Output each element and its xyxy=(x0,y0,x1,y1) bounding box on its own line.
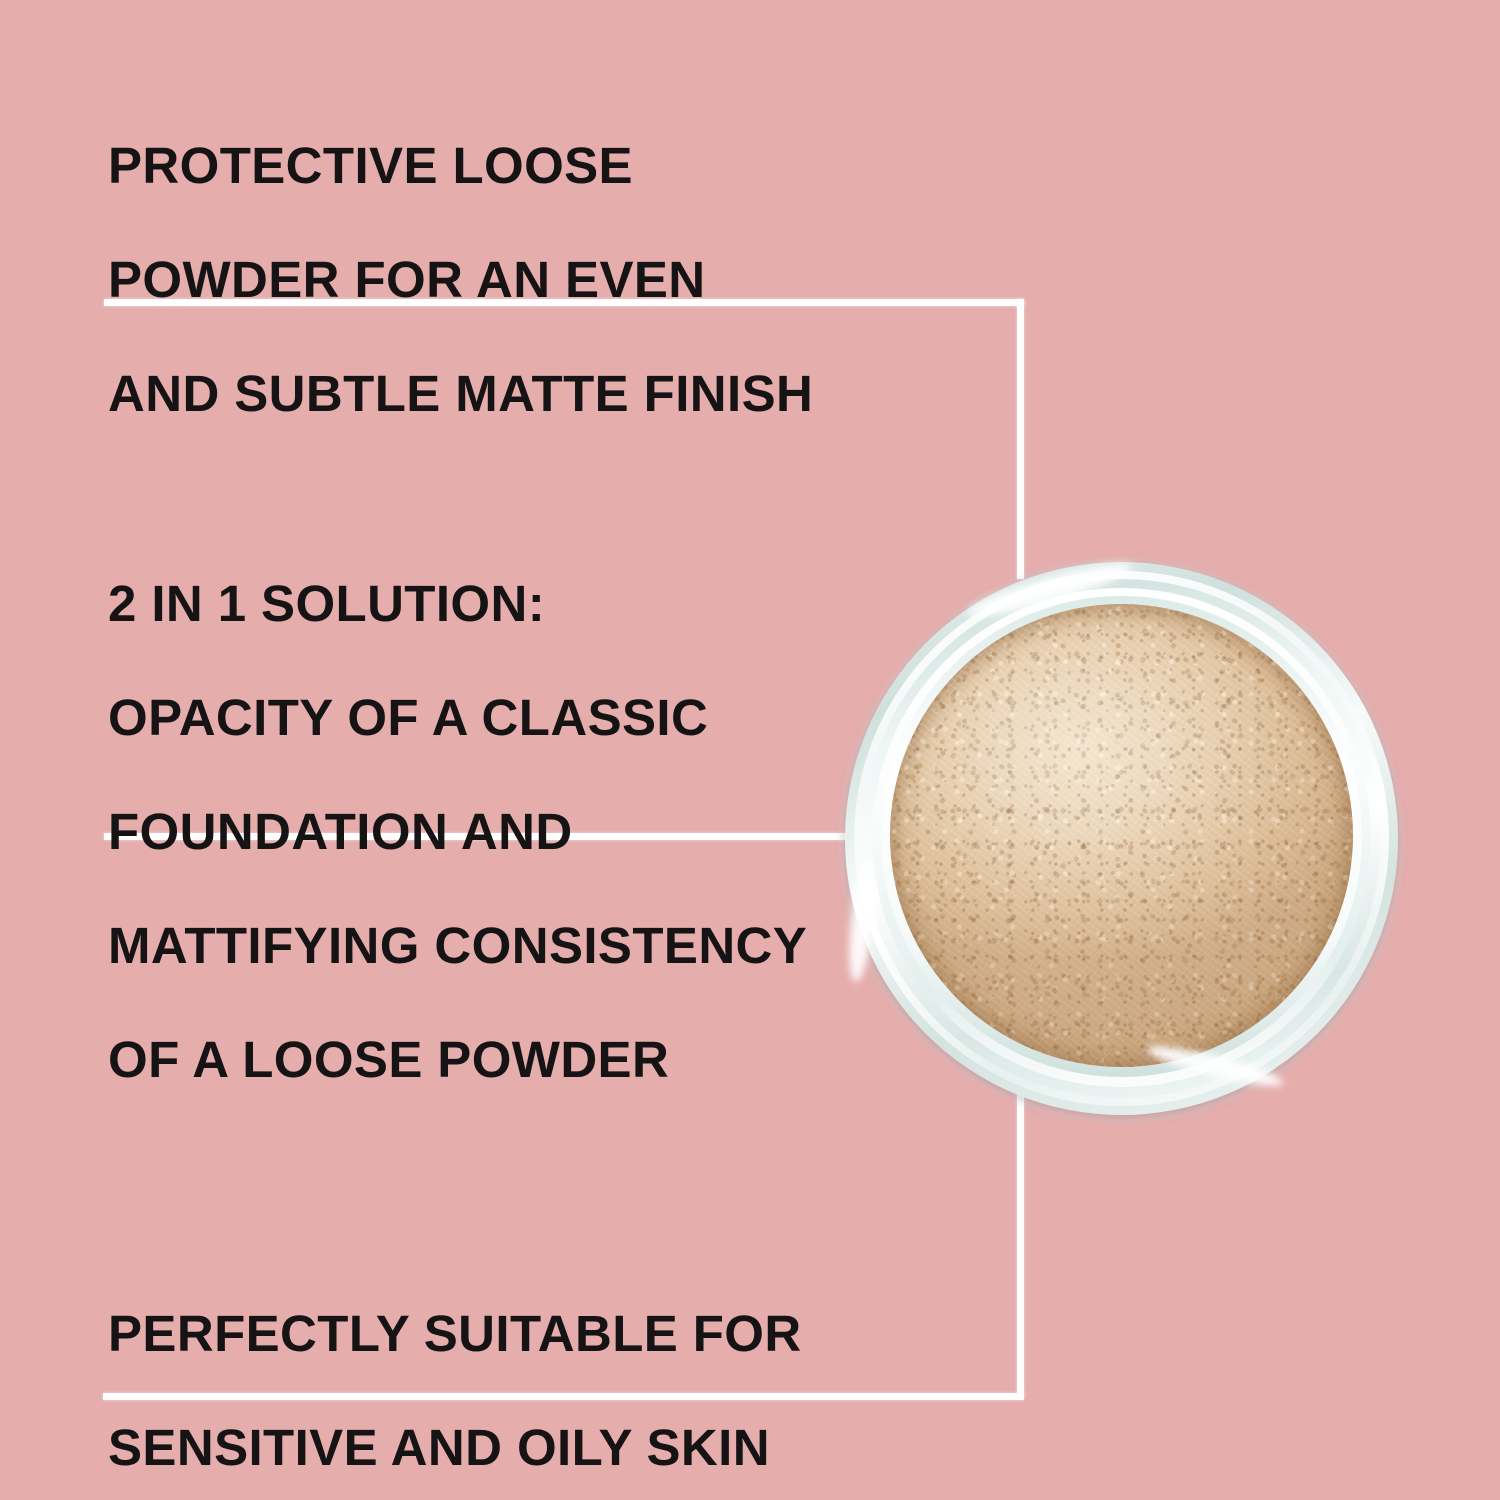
claim-2-line-4: MATTIFYING CONSISTENCY xyxy=(108,917,938,974)
claim-two-in-one-solution: 2 IN 1 SOLUTION: OPACITY OF A CLASSIC FO… xyxy=(108,518,938,1145)
powder-inner-shadow xyxy=(890,604,1353,1067)
jar-powder-fill xyxy=(890,604,1353,1067)
claim-protective-loose-powder: PROTECTIVE LOOSE POWDER FOR AN EVEN AND … xyxy=(108,80,928,479)
claim-1-line-2: POWDER FOR AN EVEN xyxy=(108,251,928,308)
claim-sensitive-oily-skin: PERFECTLY SUITABLE FOR SENSITIVE AND OIL… xyxy=(108,1248,928,1500)
powder-jar-icon xyxy=(845,562,1398,1115)
claim-2-line-2: OPACITY OF A CLASSIC xyxy=(108,689,938,746)
claim-2-line-3: FOUNDATION AND xyxy=(108,803,938,860)
claim-1-line-3: AND SUBTLE MATTE FINISH xyxy=(108,365,928,422)
product-claims-poster: PROTECTIVE LOOSE POWDER FOR AN EVEN AND … xyxy=(0,0,1500,1500)
claim-1-line-1: PROTECTIVE LOOSE xyxy=(108,137,928,194)
claim-3-line-1: PERFECTLY SUITABLE FOR xyxy=(108,1305,928,1362)
divider-line-vertical-upper xyxy=(1017,299,1024,579)
claim-2-line-5: OF A LOOSE POWDER xyxy=(108,1031,938,1088)
divider-line-vertical-lower xyxy=(1017,1090,1024,1397)
claim-2-line-1: 2 IN 1 SOLUTION: xyxy=(108,575,938,632)
claim-3-line-2: SENSITIVE AND OILY SKIN xyxy=(108,1419,928,1476)
